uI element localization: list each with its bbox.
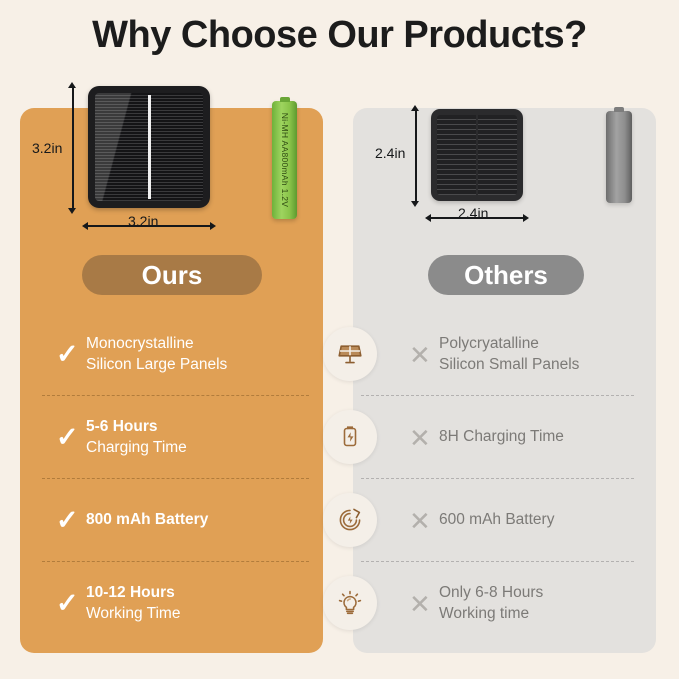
ours-feature-line: Silicon Large Panels [86,355,227,376]
battery-print-label: Ni-MH AA800mAh 1.2V [280,113,290,208]
others-height-label: 2.4in [375,145,405,161]
others-height-dimension-line [415,109,417,201]
ours-width-arrow-left-icon [82,222,88,230]
others-feature-row-0: ✕ Polycryatalline Silicon Small Panels [353,313,656,396]
battery-positive-cap [614,107,624,112]
others-feature-text-0: Polycryatalline Silicon Small Panels [439,334,579,375]
ours-feature-line: Charging Time [86,438,187,459]
ours-feature-row-0: ✓ Monocrystalline Silicon Large Panels [20,313,323,396]
others-height-arrow-down-icon [411,201,419,207]
ours-feature-line: 10-12 Hours [86,583,180,604]
others-feature-line: Working time [439,604,543,625]
ours-feature-text-0: Monocrystalline Silicon Large Panels [86,334,227,375]
ours-feature-emphasis: 10-12 Hours [86,584,175,601]
ours-feature-row-1: ✓ 5-6 Hours Charging Time [20,396,323,479]
cross-icon: ✕ [409,342,439,368]
ours-feature-line: Monocrystalline [86,334,227,355]
ours-feature-line: 5-6 Hours [86,417,187,438]
small-solar-panel-image [431,109,523,201]
green-aa-battery-image: Ni-MH AA800mAh 1.2V [272,101,297,219]
page-title: Why Choose Our Products? [0,14,679,57]
others-feature-text-1: 8H Charging Time [439,427,564,448]
solar-busbar [148,95,151,199]
others-feature-list: ✕ Polycryatalline Silicon Small Panels ✕… [353,313,656,645]
ours-feature-row-3: ✓ 10-12 Hours Working Time [20,562,323,645]
others-feature-line: Only 6-8 Hours [439,583,543,604]
ours-feature-emphasis: 800 mAh Battery [86,511,208,528]
others-width-label: 2.4in [458,205,488,221]
others-panel: 2.4in 2.4in Others ✕ Polycryatalline Sil… [353,108,656,653]
solar-cell-surface [95,93,203,201]
others-feature-text-2: 600 mAh Battery [439,510,554,531]
ours-feature-line: Working Time [86,604,180,625]
ours-feature-text-3: 10-12 Hours Working Time [86,583,180,624]
ours-feature-row-2: ✓ 800 mAh Battery [20,479,323,562]
others-badge-pill: Others [428,255,584,295]
others-feature-text-3: Only 6-8 Hours Working time [439,583,543,624]
comparison-board: Ni-MH AA800mAh 1.2V 3.2in 3.2in Ours ✓ M… [20,108,659,653]
solar-busbar [476,115,478,195]
check-icon: ✓ [56,424,86,451]
ours-feature-text-1: 5-6 Hours Charging Time [86,417,187,458]
others-feature-row-2: ✕ 600 mAh Battery [353,479,656,562]
ours-feature-text-2: 800 mAh Battery [86,510,208,531]
check-icon: ✓ [56,341,86,368]
cross-icon: ✕ [409,425,439,451]
ours-feature-list: ✓ Monocrystalline Silicon Large Panels ✓… [20,313,323,645]
others-feature-line: 600 mAh Battery [439,510,554,531]
others-width-arrow-left-icon [425,214,431,222]
others-feature-row-3: ✕ Only 6-8 Hours Working time [353,562,656,645]
check-icon: ✓ [56,507,86,534]
ours-width-arrow-right-icon [210,222,216,230]
ours-panel: Ni-MH AA800mAh 1.2V 3.2in 3.2in Ours ✓ M… [20,108,323,653]
battery-positive-cap [280,97,290,102]
others-feature-line: Polycryatalline [439,334,579,355]
ours-height-label: 3.2in [32,140,62,156]
ours-feature-emphasis: 5-6 Hours [86,418,158,435]
ours-height-arrow-up-icon [68,82,76,88]
cross-icon: ✕ [409,591,439,617]
check-icon: ✓ [56,590,86,617]
ours-badge-pill: Ours [82,255,262,295]
large-solar-panel-image [88,86,210,208]
others-height-arrow-up-icon [411,105,419,111]
cross-icon: ✕ [409,508,439,534]
ours-width-label: 3.2in [128,213,158,229]
solar-cell-surface [437,115,517,195]
others-width-arrow-right-icon [523,214,529,222]
gray-aa-battery-image [606,111,632,203]
others-feature-line: Silicon Small Panels [439,355,579,376]
ours-feature-line: 800 mAh Battery [86,510,208,531]
ours-height-dimension-line [72,86,74,208]
others-feature-row-1: ✕ 8H Charging Time [353,396,656,479]
others-feature-line: 8H Charging Time [439,427,564,448]
ours-height-arrow-down-icon [68,208,76,214]
